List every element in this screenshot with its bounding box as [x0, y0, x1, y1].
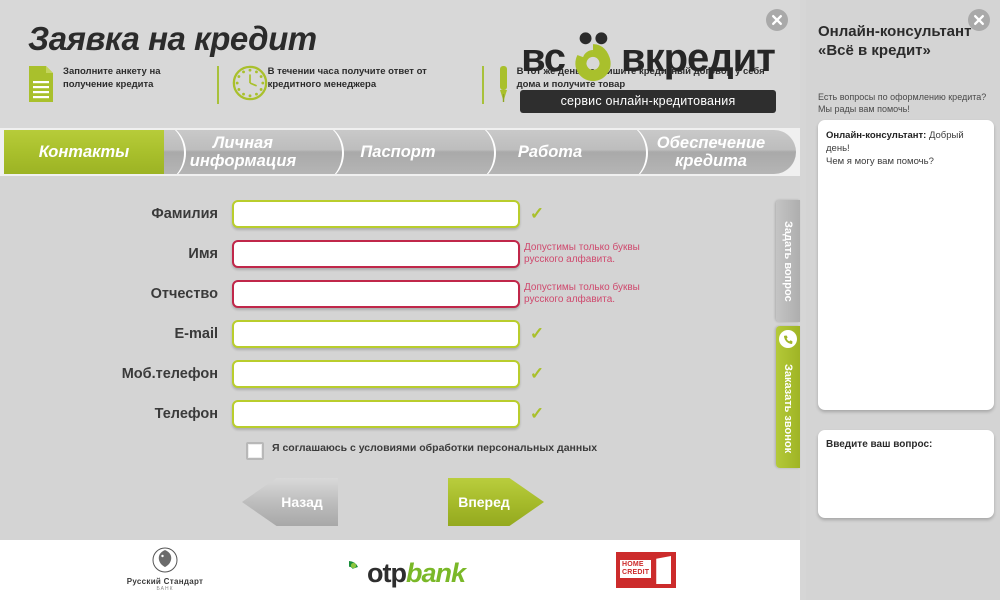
brand-logo: вс вкредит сервис онлайн-кредитова — [520, 30, 776, 113]
otp-mark-icon — [337, 559, 361, 588]
page-header: Заявка на кредит — [0, 0, 800, 128]
label-email: E-mail — [0, 326, 232, 342]
agreement-checkbox[interactable] — [246, 442, 264, 460]
form-row-mob-telefon: Моб.телефон ✓ — [0, 354, 800, 394]
bank-sub: БАНК — [110, 586, 220, 592]
partner-banks-footer: Русский Стандарт БАНК otp bank HOME — [0, 540, 800, 600]
online-consultant-panel: Онлайн-консультант «Всё в кредит» Есть в… — [806, 0, 1000, 600]
form-row-email: E-mail ✓ — [0, 314, 800, 354]
input-telefon[interactable] — [232, 400, 520, 428]
phone-icon — [779, 330, 797, 348]
back-button[interactable]: Назад — [242, 478, 338, 526]
forward-button[interactable]: Вперед — [448, 478, 544, 526]
close-icon[interactable] — [766, 9, 788, 31]
error-imya: Допустимы только буквы русского алфавита… — [524, 242, 664, 266]
input-mob-telefon[interactable] — [232, 360, 520, 388]
chat-message-line2: Чем я могу вам помочь? — [826, 155, 986, 168]
document-icon — [26, 64, 56, 104]
status-email: ✓ — [526, 325, 548, 344]
building-icon — [653, 556, 671, 584]
bank-name: Русский Стандарт — [110, 577, 220, 586]
tab-pasport[interactable]: Паспорт — [322, 130, 474, 174]
input-otchestvo[interactable] — [232, 280, 520, 308]
label-familiya: Фамилия — [0, 206, 232, 222]
bank-logo-home-credit: HOME CREDIT — [616, 552, 676, 588]
tab-lichnaya-informaciya[interactable]: Личная информация — [164, 130, 322, 174]
tab-kontakty[interactable]: Контакты — [4, 130, 164, 174]
feature-item: В течении часа получите ответ от кредитн… — [215, 64, 464, 104]
label-otchestvo: Отчество — [0, 286, 232, 302]
clock-icon — [231, 64, 261, 104]
label-imya: Имя — [0, 246, 232, 262]
logo-tagline: сервис онлайн-кредитования — [520, 90, 776, 113]
side-tab-order-call-label: Заказать звонок — [782, 364, 794, 453]
status-mob-telefon: ✓ — [526, 365, 548, 384]
logo-circle-mark — [567, 30, 619, 87]
otp-text-a: otp — [367, 558, 406, 589]
agreement-label: Я соглашаюсь с условиями обработки персо… — [272, 442, 597, 454]
form-row-familiya: Фамилия ✓ — [0, 194, 800, 234]
logo-word-right: вкредит — [621, 38, 775, 78]
form-row-telefon: Телефон ✓ — [0, 394, 800, 434]
form-navigation: Назад Вперед — [0, 474, 800, 544]
status-telefon: ✓ — [526, 405, 548, 424]
status-familiya: ✓ — [526, 205, 548, 224]
contacts-form: Фамилия ✓ Имя Допустимы только буквы рус… — [0, 176, 800, 534]
otp-text-b: bank — [406, 558, 465, 589]
input-familiya[interactable] — [232, 200, 520, 228]
side-tab-ask-question[interactable]: Задать вопрос — [776, 200, 800, 322]
home-credit-label: HOME CREDIT — [620, 560, 651, 578]
feature-item: Заполните анкету на получение кредита — [26, 64, 199, 104]
step-tabs: Контакты Личная информация Паспорт Работ… — [0, 128, 800, 176]
side-tab-order-call[interactable]: Заказать звонок — [776, 326, 800, 468]
bank-logo-otpbank: otp bank — [337, 558, 465, 589]
input-imya[interactable] — [232, 240, 520, 268]
label-mob-telefon: Моб.телефон — [0, 366, 232, 382]
tab-obespechenie-kredita[interactable]: Обеспечение кредита — [626, 130, 796, 174]
bank-logo-russian-standard: Русский Стандарт БАНК — [110, 546, 220, 592]
credit-application-window: Заявка на кредит — [0, 0, 800, 600]
form-row-imya: Имя Допустимы только буквы русского алфа… — [0, 234, 800, 274]
check-icon: ✓ — [530, 324, 544, 343]
chat-message: Онлайн-консультант: Добрый день! — [826, 129, 986, 155]
check-icon: ✓ — [530, 404, 544, 423]
chat-question-input[interactable] — [818, 430, 994, 518]
logo-wordmark: вс вкредит — [520, 30, 776, 86]
chat-intro-text: Есть вопросы по оформлению кредита? Мы р… — [818, 92, 994, 115]
hc-line1: HOME — [622, 561, 649, 569]
form-row-otchestvo: Отчество Допустимы только буквы русского… — [0, 274, 800, 314]
feature-text: В течении часа получите ответ от кредитн… — [268, 64, 464, 91]
pen-icon — [496, 64, 510, 104]
check-icon: ✓ — [530, 364, 544, 383]
input-email[interactable] — [232, 320, 520, 348]
side-tabs: Задать вопрос Заказать звонок — [776, 200, 800, 468]
chat-title: Онлайн-консультант «Всё в кредит» — [818, 22, 988, 60]
check-icon: ✓ — [530, 204, 544, 223]
agreement-row: Я соглашаюсь с условиями обработки персо… — [0, 442, 800, 460]
eagle-icon — [149, 546, 181, 576]
error-otchestvo: Допустимы только буквы русского алфавита… — [524, 282, 664, 306]
tab-rabota[interactable]: Работа — [474, 130, 626, 174]
label-telefon: Телефон — [0, 406, 232, 422]
hc-line2: CREDIT — [622, 569, 649, 577]
feature-text: Заполните анкету на получение кредита — [63, 64, 199, 91]
chat-message-author: Онлайн-консультант: — [826, 130, 926, 141]
logo-word-left: вс — [521, 38, 565, 78]
page-title: Заявка на кредит — [28, 20, 317, 58]
chat-message-log: Онлайн-консультант: Добрый день! Чем я м… — [818, 120, 994, 410]
